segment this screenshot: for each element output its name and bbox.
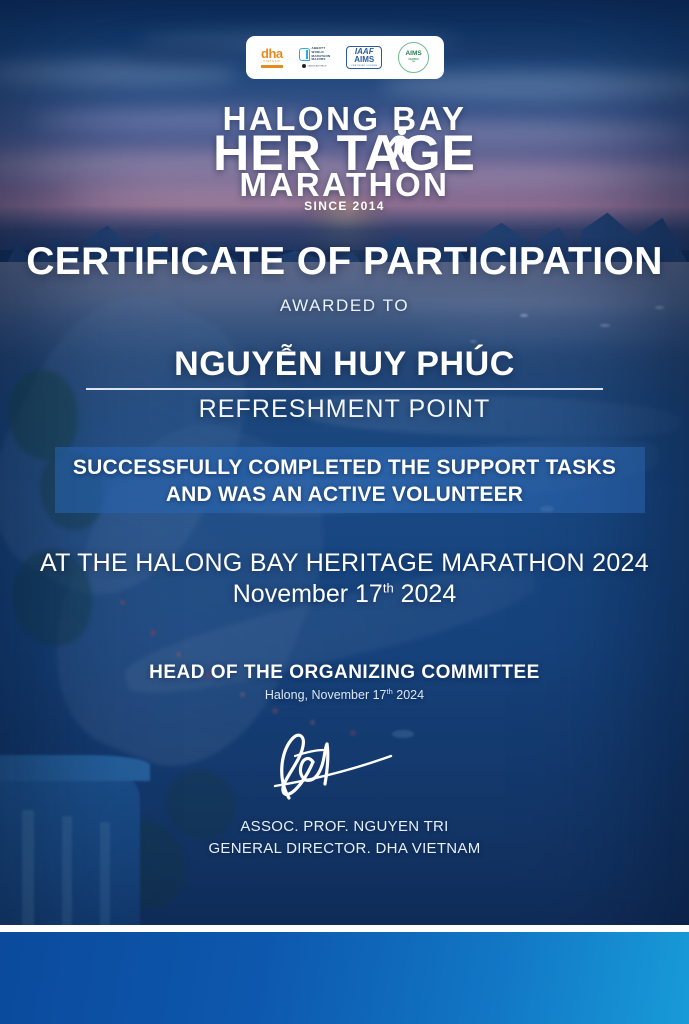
sanctioning-logo-bar: dha VIETNAM ABBOTT WORLD MARATHON MAJORS…: [246, 36, 444, 79]
aims-label: AIMS: [354, 56, 374, 64]
abbott-a-icon: [299, 48, 310, 61]
committee-place-date-prefix: Halong, November 17: [265, 688, 387, 702]
committee-title: HEAD OF THE ORGANIZING COMMITTEE: [0, 662, 689, 684]
awmm-dot-icon: [302, 64, 306, 68]
recipient-name: NGUYỄN HUY PHÚC: [0, 345, 689, 384]
footer-bar: Exclusive Apparel Sponsor LI-NING Offici…: [0, 932, 689, 1024]
abbott-world-marathon-majors-logo: ABBOTT WORLD MARATHON MAJORS CANDIDATE R…: [299, 47, 331, 68]
certificate-page: dha VIETNAM ABBOTT WORLD MARATHON MAJORS…: [0, 0, 689, 1024]
committee-place-date: Halong, November 17th 2024: [0, 687, 689, 702]
dha-wordmark: dha: [261, 47, 283, 60]
event-date-month-day: November 17: [233, 580, 383, 608]
event-date: November 17th 2024: [0, 580, 689, 609]
event-date-year: 2024: [401, 580, 457, 608]
laurel-icon: ❧: [412, 61, 416, 64]
iaaf-aims-logo: IAAF AIMS CERTIFIED COURSE: [346, 46, 382, 70]
signer-name: ASSOC. PROF. NGUYEN TRI: [0, 818, 689, 835]
event-since-label: SINCE 2014: [0, 199, 689, 213]
citation-text: SUCCESSFULLY COMPLETED THE SUPPORT TASKS…: [0, 455, 689, 509]
event-date-ordinal: th: [383, 581, 394, 596]
dha-vietnam-logo: dha VIETNAM: [261, 47, 283, 68]
certificate-heading: CERTIFICATE OF PARTICIPATION: [0, 240, 689, 284]
aims-member-logo: AIMS MEMBER ❧: [398, 42, 429, 73]
dha-underline: [261, 65, 283, 68]
name-divider: [86, 388, 603, 390]
committee-date-year: 2024: [396, 688, 424, 702]
iaaf-certified-text: CERTIFIED COURSE: [351, 65, 377, 67]
awmm-line4: MAJORS: [312, 58, 331, 62]
citation-line1: SUCCESSFULLY COMPLETED THE SUPPORT TASKS: [0, 455, 689, 482]
awarded-to-label: AWARDED TO: [0, 296, 689, 316]
citation-line2: AND WAS AN ACTIVE VOLUNTEER: [0, 482, 689, 509]
recipient-role: REFRESHMENT POINT: [0, 395, 689, 424]
event-reference-line: AT THE HALONG BAY HERITAGE MARATHON 2024: [0, 549, 689, 578]
footer-divider: [0, 925, 689, 932]
signer-title: GENERAL DIRECTOR. DHA VIETNAM: [0, 840, 689, 857]
signature-mark: [255, 726, 435, 806]
dha-subtitle: VIETNAM: [263, 60, 280, 64]
awmm-footnote: CANDIDATE RACE: [307, 66, 326, 68]
committee-date-ordinal: th: [387, 687, 393, 696]
